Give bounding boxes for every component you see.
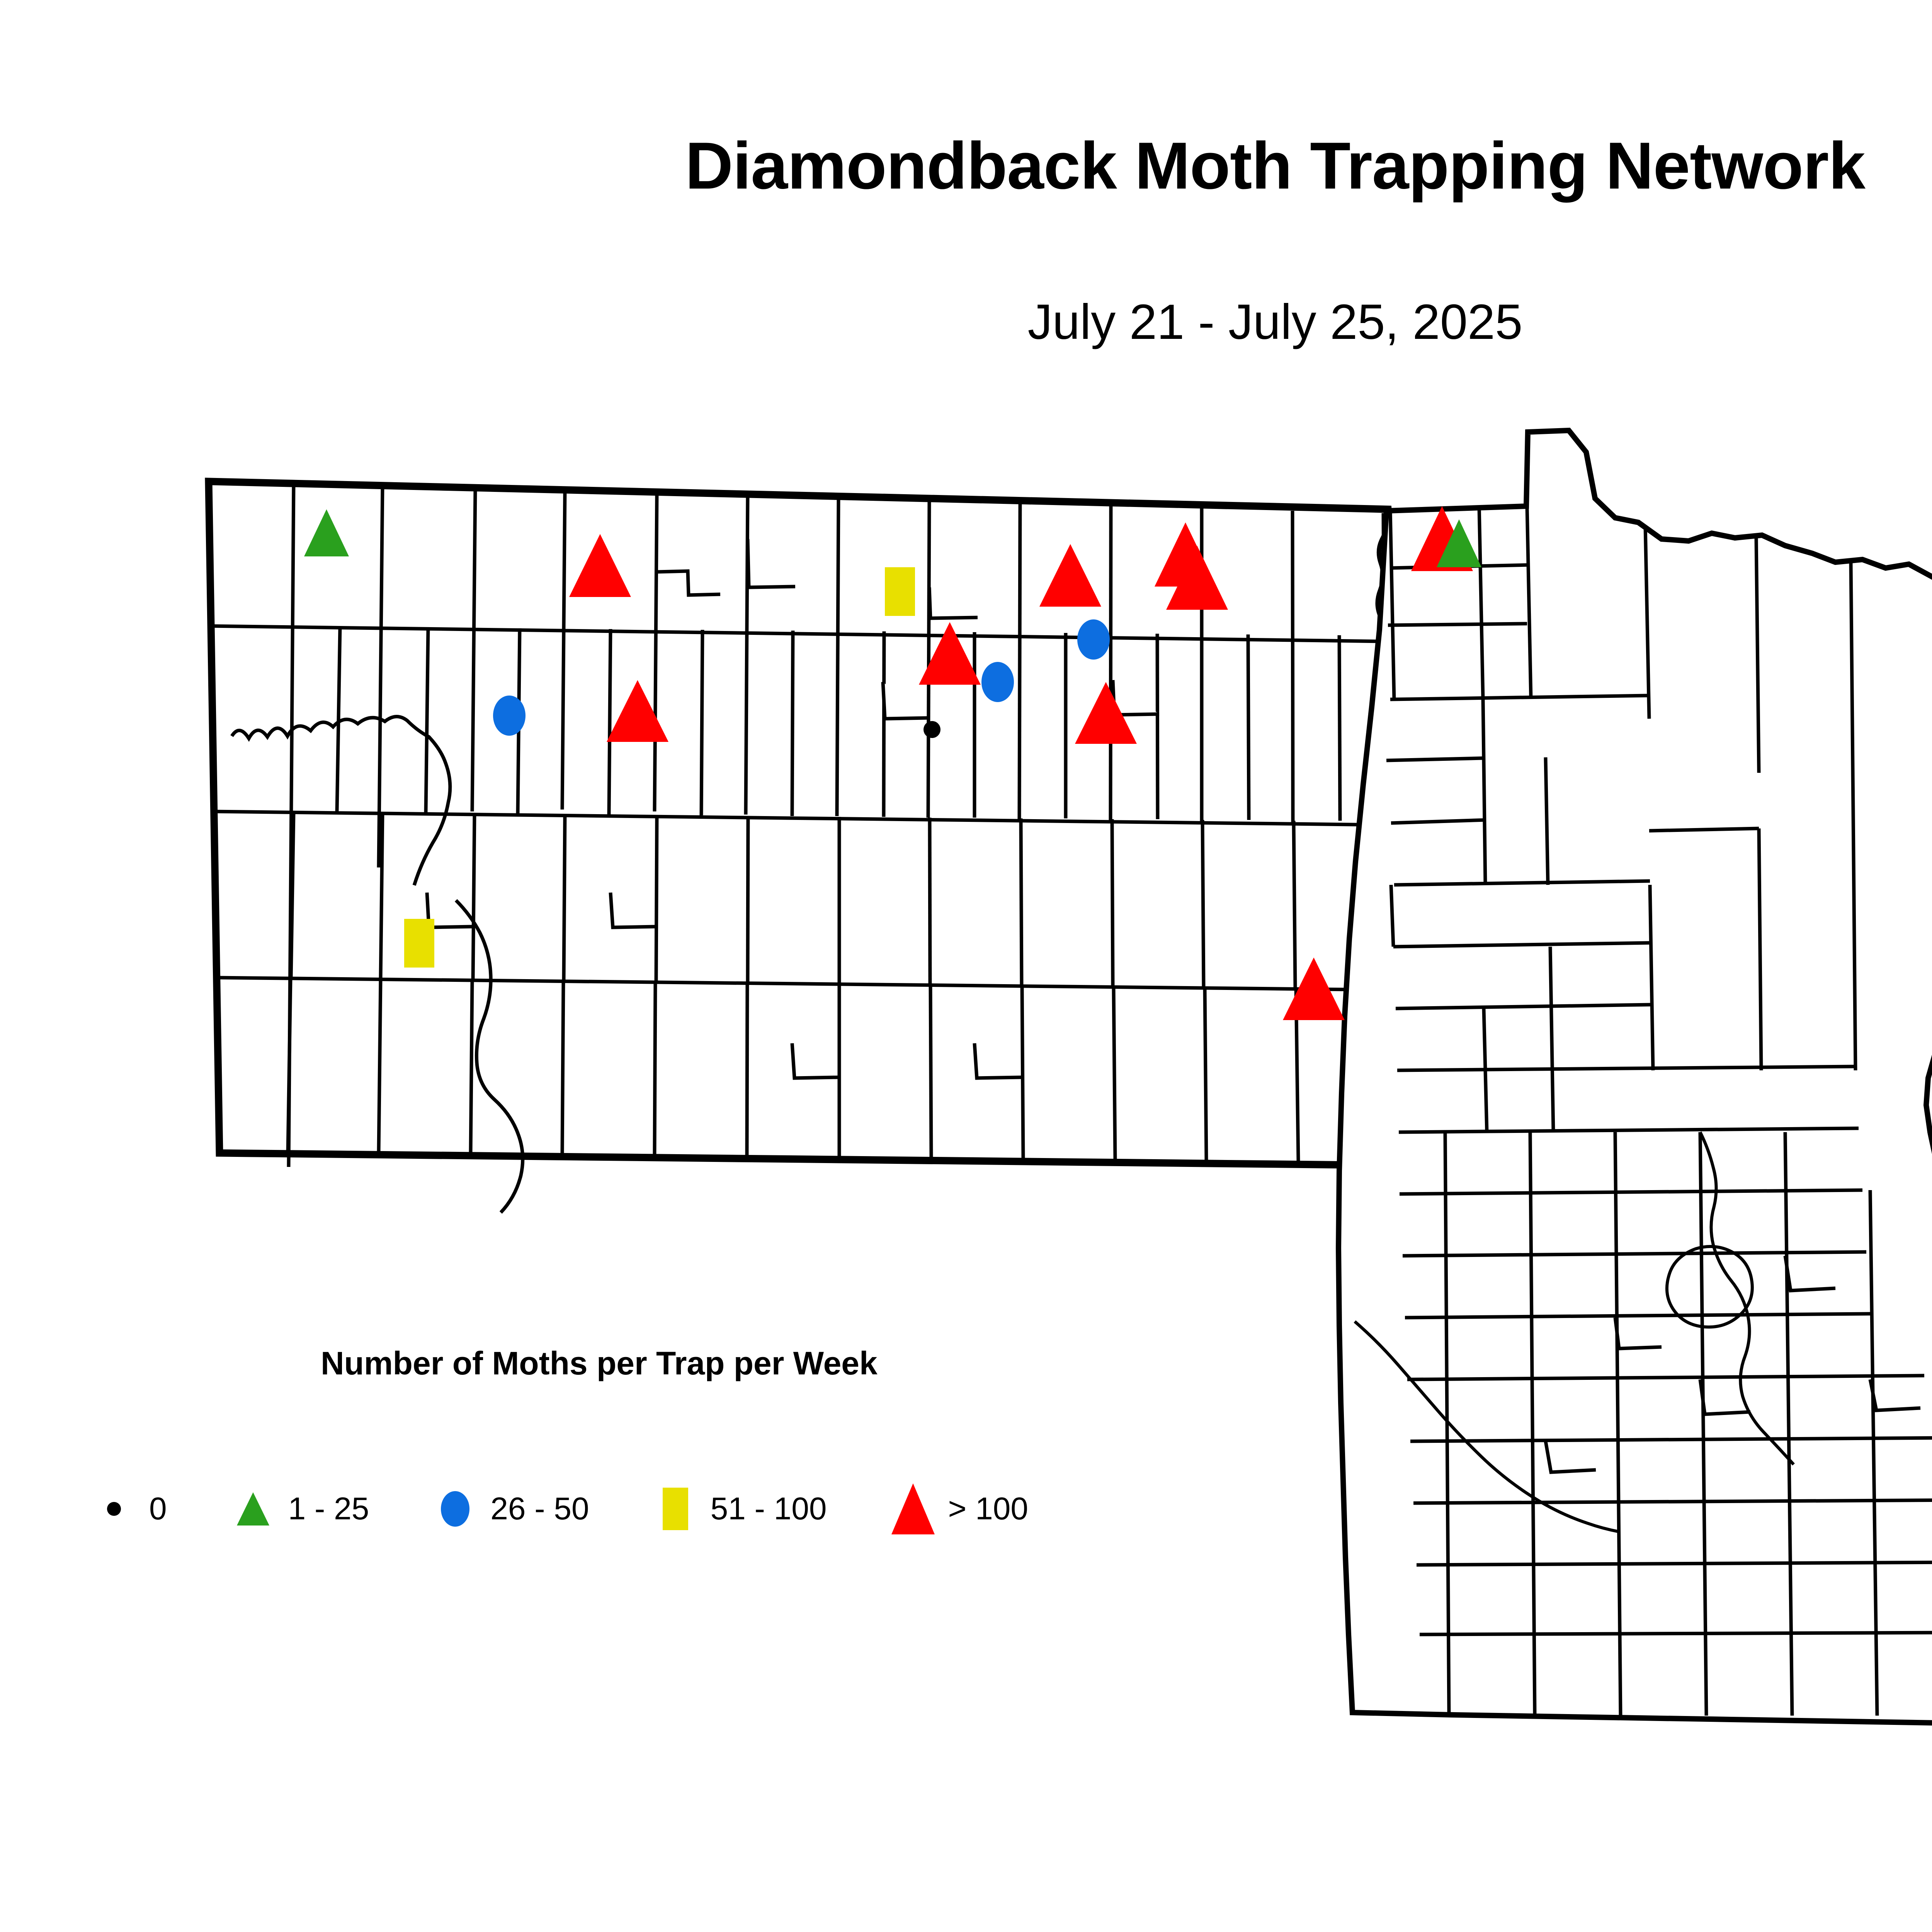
triangle-small-icon: [232, 1484, 274, 1534]
map-graphic[interactable]: [0, 0, 1932, 1932]
marker-triangle-small[interactable]: [304, 509, 349, 556]
legend: 0 1 - 25 26 - 50 51 - 100 > 100: [93, 1480, 1093, 1538]
marker-triangle-large[interactable]: [607, 680, 668, 742]
marker-square[interactable]: [885, 567, 915, 616]
marker-circle[interactable]: [493, 696, 526, 736]
missouri-river: [456, 900, 523, 1213]
dot-icon: [93, 1484, 135, 1534]
trap-markers: [304, 506, 1481, 1020]
marker-square[interactable]: [404, 919, 434, 968]
legend-item-51-100[interactable]: 51 - 100: [654, 1484, 827, 1534]
legend-item-zero[interactable]: 0: [93, 1484, 167, 1534]
circle-icon: [434, 1484, 476, 1534]
marker-circle[interactable]: [1077, 619, 1110, 660]
legend-item-label: 0: [149, 1491, 167, 1527]
triangle-large-icon: [892, 1484, 934, 1534]
legend-item-26-50[interactable]: 26 - 50: [434, 1484, 589, 1534]
marker-circle[interactable]: [981, 662, 1014, 702]
legend-item-label: 1 - 25: [288, 1491, 369, 1527]
legend-title: Number of Moths per Trap per Week: [321, 1345, 878, 1382]
legend-item-over-100[interactable]: > 100: [892, 1484, 1028, 1534]
square-icon: [654, 1484, 697, 1534]
legend-item-1-25[interactable]: 1 - 25: [232, 1484, 369, 1534]
map-page: Diamondback Moth Trapping Network July 2…: [0, 0, 1932, 1932]
legend-item-label: > 100: [948, 1491, 1028, 1527]
marker-triangle-large[interactable]: [569, 534, 631, 597]
marker-dot[interactable]: [923, 721, 940, 738]
marker-triangle-large[interactable]: [1039, 544, 1101, 607]
legend-item-label: 51 - 100: [711, 1491, 827, 1527]
legend-item-label: 26 - 50: [490, 1491, 589, 1527]
lake-sakakawea: [232, 716, 450, 885]
